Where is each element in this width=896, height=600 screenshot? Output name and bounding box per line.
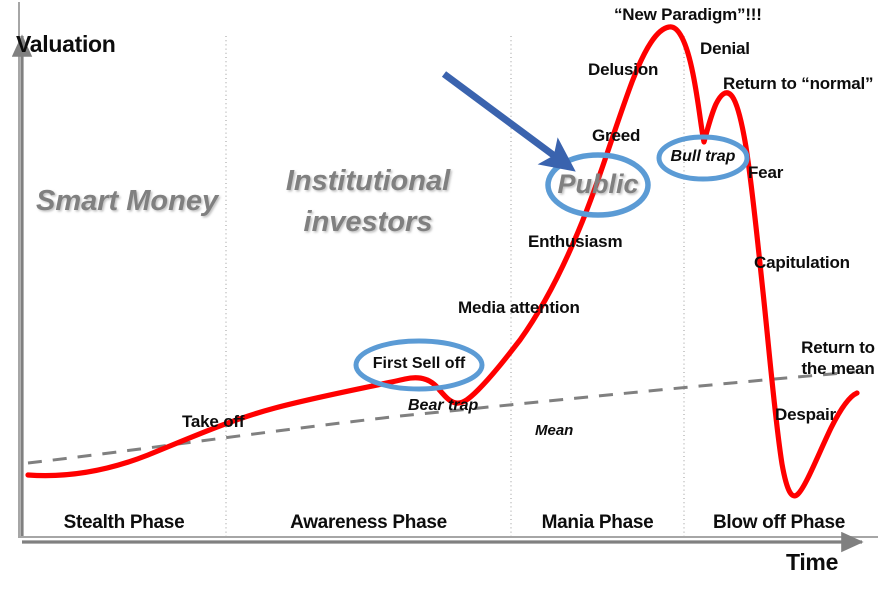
annotation-denial: Denial	[700, 39, 750, 58]
phase-label-stealth: Stealth Phase	[22, 512, 226, 533]
annotation-mean: Mean	[535, 423, 573, 440]
actor-institutional-line1: Institutional	[253, 165, 483, 197]
annotation-despair: Despair	[775, 405, 836, 424]
annotation-media-attention: Media attention	[458, 298, 580, 317]
annotation-return-to-mean-line2: the mean	[790, 359, 886, 378]
annotation-bull-trap: Bull trap	[661, 148, 745, 166]
y-axis-label: Valuation	[16, 32, 116, 58]
annotation-delusion: Delusion	[588, 60, 658, 79]
annotation-capitulation: Capitulation	[754, 253, 850, 272]
x-axis-label: Time	[786, 550, 838, 576]
public-pointer-arrow	[444, 74, 560, 160]
annotation-return-to-mean-line1: Return to	[790, 338, 886, 357]
annotation-return-to-normal: Return to “normal”	[723, 74, 873, 93]
annotation-take-off: Take off	[182, 412, 244, 431]
bubble-phases-chart: Valuation Time Smart Money Institutional…	[0, 0, 896, 600]
annotation-new-paradigm: “New Paradigm”!!!	[614, 5, 762, 24]
annotation-fear: Fear	[748, 163, 783, 182]
annotation-first-sell-off: First Sell off	[359, 355, 479, 373]
actor-institutional-line2: investors	[253, 206, 483, 238]
phase-label-awareness: Awareness Phase	[226, 512, 511, 533]
actor-public: Public	[552, 169, 644, 199]
annotation-enthusiasm: Enthusiasm	[528, 232, 622, 251]
actor-smart-money: Smart Money	[36, 185, 196, 217]
annotation-bear-trap: Bear trap	[408, 397, 478, 415]
phase-label-blowoff: Blow off Phase	[684, 512, 874, 533]
valuation-curve	[28, 27, 857, 496]
annotation-greed: Greed	[592, 126, 640, 145]
phase-label-mania: Mania Phase	[511, 512, 684, 533]
